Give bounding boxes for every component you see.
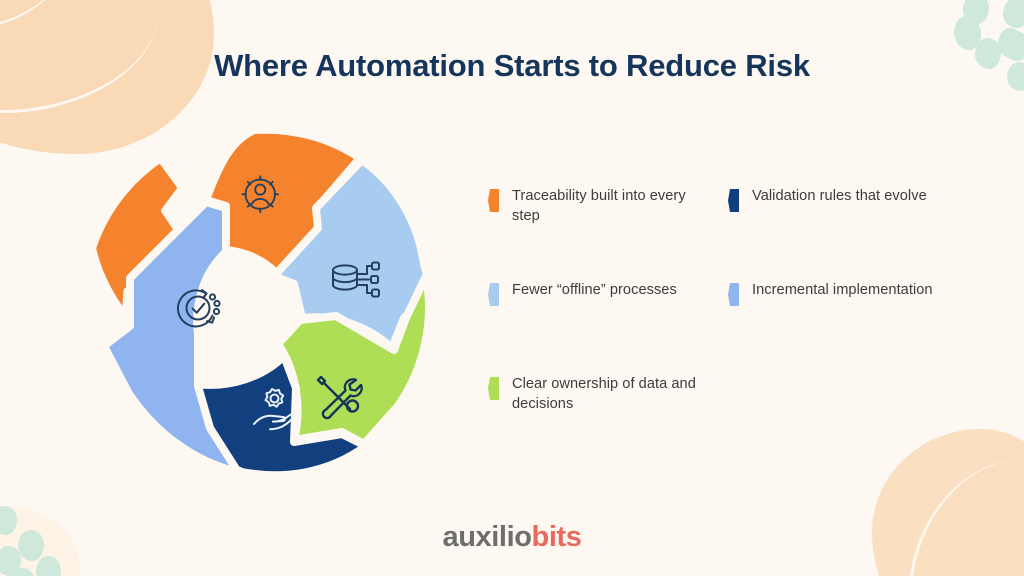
legend-item-incremental-implementation[interactable]: Incremental implementation bbox=[728, 280, 933, 306]
legend-item-label: Fewer “offline” processes bbox=[512, 280, 677, 300]
cycle-wheel-graphic bbox=[78, 122, 438, 482]
mint-dot bbox=[954, 16, 980, 47]
mint-dot bbox=[1003, 0, 1024, 28]
chevron-left-marker bbox=[488, 377, 499, 400]
legend-item-clear-ownership[interactable]: Clear ownership of data and decisions bbox=[488, 374, 703, 414]
chevron-left-marker bbox=[488, 283, 499, 306]
legend-item-traceability[interactable]: Traceability built into every step bbox=[488, 186, 703, 226]
mint-dot bbox=[955, 19, 981, 50]
mint-dot bbox=[36, 556, 61, 576]
legend-item-label: Incremental implementation bbox=[752, 280, 933, 300]
mint-dot bbox=[10, 568, 35, 576]
logo-text-auxilio: auxilio bbox=[442, 521, 531, 553]
logo-text-bits: bits bbox=[532, 521, 582, 553]
legend-item-label: Clear ownership of data and decisions bbox=[512, 374, 703, 414]
chevron-left-marker bbox=[488, 189, 499, 212]
legend-item-label: Validation rules that evolve bbox=[752, 186, 927, 206]
page-title: Where Automation Starts to Reduce Risk bbox=[0, 48, 1024, 84]
legend-item-label: Traceability built into every step bbox=[512, 186, 703, 226]
legend-item-offline-processes[interactable]: Fewer “offline” processes bbox=[488, 280, 677, 306]
mint-dot bbox=[963, 0, 989, 24]
peach-blob-line-2 bbox=[0, 0, 74, 40]
chevron-left-marker bbox=[728, 283, 739, 306]
peach-blob-line-3 bbox=[902, 446, 1024, 576]
chevron-left-marker bbox=[728, 189, 739, 212]
slide-canvas: Where Automation Starts to Reduce Risk bbox=[0, 0, 1024, 576]
legend-item-validation-rules[interactable]: Validation rules that evolve bbox=[728, 186, 927, 212]
brand-logo: auxiliobits bbox=[0, 521, 1024, 554]
